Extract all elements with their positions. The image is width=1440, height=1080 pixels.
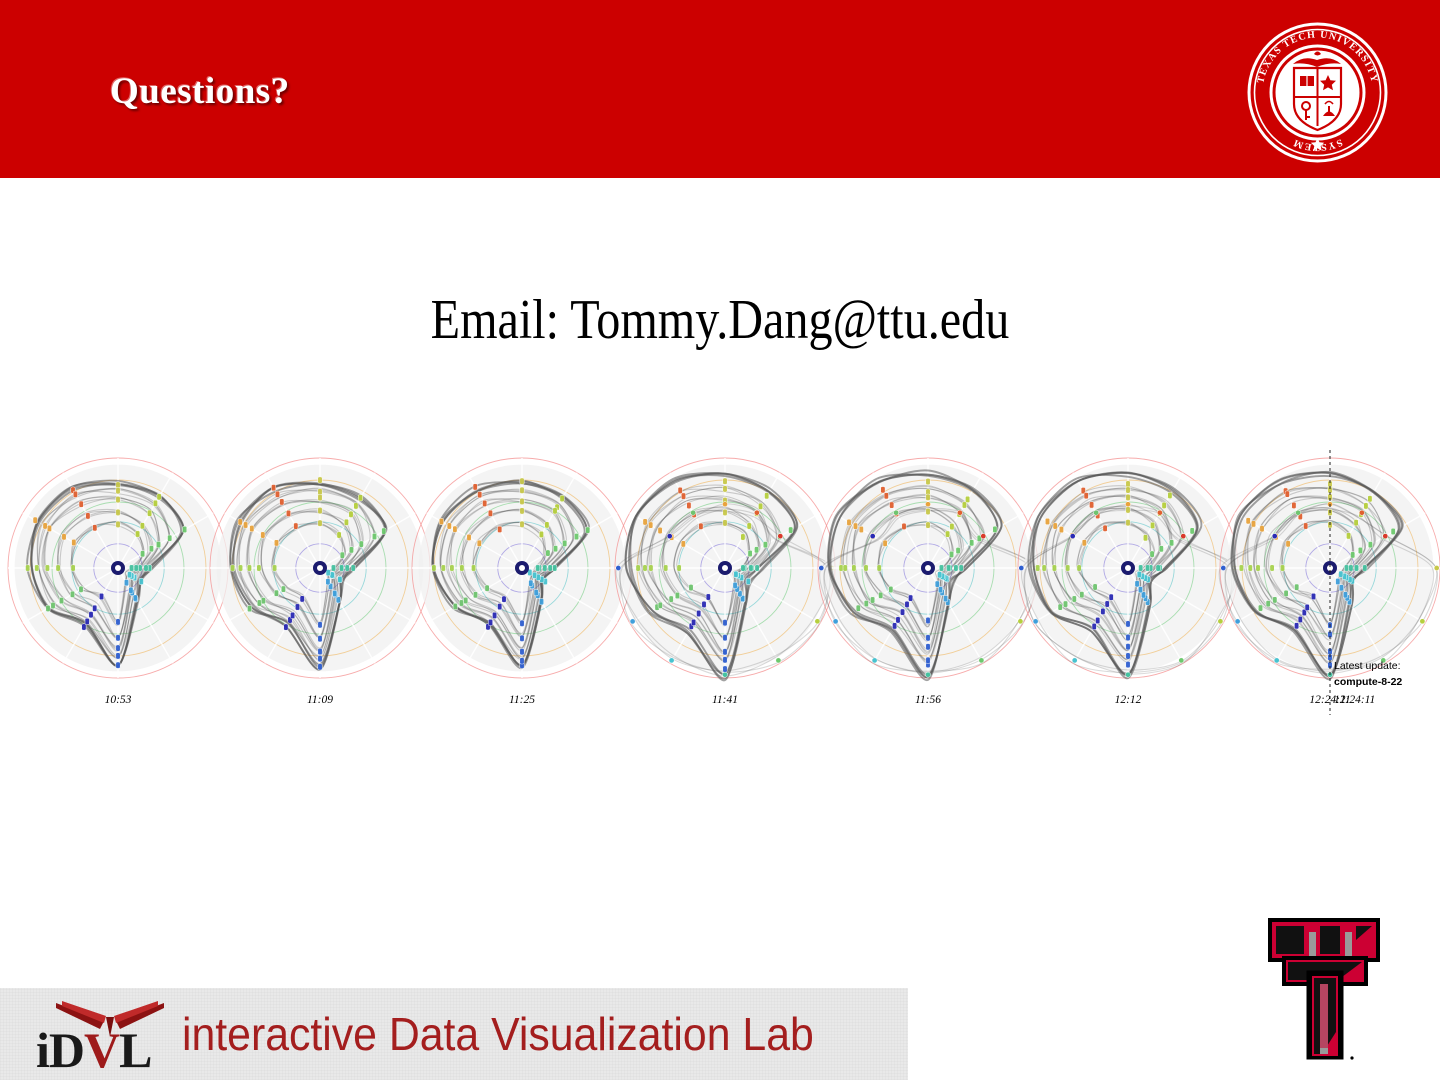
data-point-marker [746, 578, 750, 584]
data-point-marker-outer [981, 534, 986, 539]
data-point-marker [1105, 601, 1109, 607]
data-point-marker [755, 565, 759, 571]
data-point-marker [344, 519, 348, 525]
data-point-marker [926, 657, 930, 663]
data-point-marker [247, 565, 251, 571]
data-point-marker [723, 520, 727, 526]
data-point-marker [116, 653, 120, 659]
data-point-marker [1295, 584, 1299, 590]
data-point-marker [574, 533, 578, 539]
center-hub-hole [317, 565, 323, 571]
data-point-marker [691, 619, 695, 625]
data-point-marker [257, 600, 261, 606]
data-point-marker [943, 595, 947, 601]
data-point-marker [1059, 526, 1063, 532]
data-point-marker [116, 619, 120, 625]
data-point-marker [116, 635, 120, 641]
data-point-marker-outer [1218, 619, 1223, 624]
data-point-marker [723, 635, 727, 641]
data-point-marker [453, 526, 457, 532]
data-point-marker [272, 565, 276, 571]
data-point-marker [520, 635, 524, 641]
data-point-marker [1258, 605, 1262, 611]
data-point-marker [483, 500, 487, 506]
data-point-marker [926, 494, 930, 500]
data-point-marker [687, 502, 691, 508]
data-point-marker [520, 649, 524, 655]
data-point-marker [140, 551, 144, 557]
data-point-marker [116, 521, 120, 527]
data-point-marker [477, 540, 481, 546]
data-point-marker [553, 508, 557, 514]
data-point-marker [498, 603, 502, 609]
data-point-marker [135, 531, 139, 537]
radar-panel [8, 458, 228, 678]
data-point-marker [939, 565, 943, 571]
data-point-marker [1368, 542, 1372, 548]
data-point-marker [70, 591, 74, 597]
data-point-marker [1256, 565, 1260, 571]
data-point-marker [349, 511, 353, 517]
data-point-marker [250, 525, 254, 531]
data-point-marker [539, 599, 543, 605]
data-point-marker [340, 552, 344, 558]
data-point-marker [859, 526, 863, 532]
data-point-marker [1294, 623, 1298, 629]
data-point-marker [1126, 634, 1130, 640]
data-point-marker [938, 572, 942, 578]
data-point-marker-outer [667, 534, 672, 539]
data-point-marker [338, 576, 342, 582]
data-point-marker [85, 618, 89, 624]
data-point-marker [1169, 540, 1173, 546]
data-point-marker [1077, 565, 1081, 571]
idvl-wordmark: interactive Data Visualization Lab [182, 1007, 814, 1061]
data-point-marker [46, 605, 50, 611]
data-point-marker [669, 596, 673, 602]
data-point-marker [147, 510, 151, 516]
panel-time-label: 11:41 [712, 694, 738, 706]
data-point-marker [79, 501, 83, 507]
data-point-marker [144, 565, 148, 571]
data-point-marker [257, 565, 261, 571]
data-point-marker [1354, 565, 1358, 571]
data-point-marker [1126, 481, 1130, 487]
data-point-marker [238, 565, 242, 571]
data-point-marker [1339, 585, 1343, 591]
data-point-marker [492, 612, 496, 618]
radar-panel [210, 458, 430, 678]
data-point-marker-outer [1072, 658, 1077, 663]
data-point-marker [723, 478, 727, 484]
data-point-marker [926, 644, 930, 650]
data-point-marker [649, 522, 653, 528]
data-point-marker [89, 612, 93, 618]
center-hub-hole [115, 565, 121, 571]
data-point-marker [82, 624, 86, 630]
data-point-marker [86, 513, 90, 519]
data-point-marker [359, 541, 363, 547]
data-point-marker-outer [894, 510, 899, 515]
data-point-marker [134, 565, 138, 571]
data-point-marker-outer [1383, 534, 1388, 539]
data-point-marker [43, 523, 47, 529]
data-point-marker [677, 565, 681, 571]
data-point-marker [839, 565, 843, 571]
data-point-marker [520, 658, 524, 664]
data-point-marker [883, 540, 887, 546]
data-point-marker [763, 542, 767, 548]
data-point-marker [149, 546, 153, 552]
data-point-marker [877, 565, 881, 571]
data-point-marker [900, 609, 904, 615]
data-point-marker [520, 487, 524, 493]
data-point-marker [959, 565, 963, 571]
data-point-marker [938, 587, 942, 593]
panel-time-label: 11:56 [915, 694, 941, 706]
data-point-marker [286, 510, 290, 516]
data-point-marker [45, 565, 49, 571]
data-point-marker [1092, 623, 1096, 629]
data-point-marker [1344, 565, 1348, 571]
data-point-marker-outer [754, 510, 759, 515]
annotation-host: compute-8-22 [1334, 676, 1402, 688]
data-point-marker [723, 657, 727, 663]
data-point-marker [337, 532, 341, 538]
data-point-marker-outer [1125, 672, 1130, 677]
data-point-marker [1273, 597, 1277, 603]
data-point-marker-outer [1033, 619, 1038, 624]
data-point-marker [748, 550, 752, 556]
data-point-marker [318, 520, 322, 526]
data-point-marker [331, 565, 335, 571]
data-point-marker [896, 617, 900, 623]
data-point-marker [139, 578, 143, 584]
data-point-marker-outer [1157, 510, 1162, 515]
data-point-marker [864, 565, 868, 571]
data-point-marker [129, 565, 133, 571]
data-point-marker [382, 528, 386, 534]
page-title: Questions? [110, 70, 290, 113]
data-point-marker [261, 598, 265, 604]
data-point-marker [892, 623, 896, 629]
data-point-marker [723, 666, 727, 672]
data-point-marker [354, 503, 358, 509]
data-point-marker [664, 565, 668, 571]
data-point-marker [116, 662, 120, 668]
data-point-marker [520, 508, 524, 514]
data-point-marker [318, 494, 322, 500]
annotation-time: 12:24:11 [1334, 694, 1375, 706]
data-point-marker [586, 527, 590, 533]
data-point-marker [1246, 518, 1250, 524]
data-point-marker [636, 565, 640, 571]
data-point-marker [965, 496, 969, 502]
header-banner: Questions? TEXAS [0, 0, 1440, 178]
data-point-marker-outer [1272, 534, 1277, 539]
data-point-marker [1298, 616, 1302, 622]
data-point-marker [281, 586, 285, 592]
idvl-pre: iD [36, 1022, 84, 1078]
data-point-marker [949, 551, 953, 557]
data-point-marker [1103, 525, 1107, 531]
data-point-marker [116, 482, 120, 488]
data-point-marker [47, 525, 51, 531]
center-hub-hole [925, 565, 931, 571]
data-point-marker [1349, 565, 1353, 571]
radar-panel [818, 458, 1039, 680]
data-point-marker [1168, 492, 1172, 498]
data-point-marker [954, 565, 958, 571]
data-point-marker [1368, 496, 1372, 502]
data-point-marker [681, 541, 685, 547]
data-point-marker [881, 487, 885, 493]
data-point-marker [116, 496, 120, 502]
data-point-marker [741, 565, 745, 571]
data-point-marker-outer [833, 619, 838, 624]
data-point-marker [532, 572, 536, 578]
data-point-marker-outer [925, 502, 930, 507]
idvl-post: L [119, 1022, 151, 1078]
data-point-marker [864, 600, 868, 606]
data-point-marker [295, 604, 299, 610]
data-point-marker [539, 531, 543, 537]
data-point-marker [1251, 521, 1255, 527]
data-point-marker [473, 592, 477, 598]
data-point-marker [1150, 551, 1154, 557]
data-point-marker [789, 527, 793, 533]
data-point-marker [1089, 502, 1093, 508]
data-point-marker [1351, 552, 1355, 558]
data-point-marker [548, 565, 552, 571]
radar-chart-svg: 10:5311:0911:2511:4111:5612:1212:24:11La… [0, 440, 1440, 725]
data-point-marker-outer [925, 672, 930, 677]
idvl-lettermark: iDVL [36, 1025, 151, 1075]
idvl-accent-v: V [84, 1022, 119, 1078]
data-point-marker-outer [722, 672, 727, 677]
data-point-marker [884, 493, 888, 499]
data-point-marker [351, 565, 355, 571]
data-point-marker [1159, 546, 1163, 552]
data-point-marker [157, 494, 161, 500]
data-point-marker [702, 601, 706, 607]
data-point-marker [1143, 535, 1147, 541]
data-point-marker [1126, 653, 1130, 659]
data-point-marker [318, 477, 322, 483]
data-point-marker [464, 597, 468, 603]
data-point-marker [450, 565, 454, 571]
data-point-marker [71, 565, 75, 571]
data-point-marker [935, 581, 939, 587]
data-point-marker [1284, 590, 1288, 596]
data-point-marker-outer [1296, 510, 1301, 515]
data-point-marker [473, 484, 477, 490]
data-point-marker [290, 612, 294, 618]
data-point-marker [543, 565, 547, 571]
data-point-marker [1058, 604, 1062, 610]
data-point-marker-outer [1125, 502, 1130, 507]
data-point-marker [318, 489, 322, 495]
data-point-marker-outer [691, 510, 696, 515]
data-point-marker [1126, 494, 1130, 500]
data-point-marker [1052, 565, 1056, 571]
data-point-marker [1305, 604, 1309, 610]
data-point-marker-outer [872, 658, 877, 663]
data-point-marker [905, 601, 909, 607]
data-point-marker [890, 502, 894, 508]
data-point-marker [1162, 502, 1166, 508]
data-point-marker-outer [616, 565, 621, 570]
data-point-marker [1084, 493, 1088, 499]
data-point-marker [467, 534, 471, 540]
data-point-marker [140, 523, 144, 529]
data-point-marker [1363, 565, 1367, 571]
data-point-marker [26, 565, 30, 571]
data-point-marker [658, 602, 662, 608]
data-point-marker [261, 532, 265, 538]
data-point-marker [681, 493, 685, 499]
data-point-marker [733, 582, 737, 588]
data-point-marker [326, 570, 330, 576]
data-point-marker [79, 586, 83, 592]
data-point-marker [1358, 547, 1362, 553]
data-point-marker [1354, 520, 1358, 526]
data-point-marker [1311, 593, 1315, 599]
panel-time-label: 12:12 [1115, 694, 1142, 706]
data-point-marker [156, 541, 160, 547]
data-point-marker [349, 547, 353, 553]
data-point-marker-outer [776, 658, 781, 663]
data-point-marker [678, 487, 682, 493]
data-point-marker [1036, 565, 1040, 571]
data-point-marker [765, 493, 769, 499]
data-point-marker [318, 622, 322, 628]
data-point-marker-outer [815, 619, 820, 624]
data-point-marker [520, 521, 524, 527]
data-point-marker-outer [1019, 565, 1024, 570]
data-point-marker [1138, 587, 1142, 593]
data-point-marker-outer [819, 565, 824, 570]
data-point-marker [699, 523, 703, 529]
data-point-marker [441, 565, 445, 571]
data-point-marker [124, 580, 128, 586]
data-point-marker [318, 648, 322, 654]
data-point-marker [706, 594, 710, 600]
data-point-marker [439, 518, 443, 524]
data-point-marker-outer [1434, 565, 1439, 570]
panel-time-label: 11:25 [509, 694, 535, 706]
data-point-marker [520, 620, 524, 626]
data-point-marker [926, 478, 930, 484]
data-point-marker [536, 565, 540, 571]
data-point-marker [553, 565, 557, 571]
data-point-marker [853, 523, 857, 529]
data-point-marker [300, 596, 304, 602]
data-point-marker [723, 486, 727, 492]
data-point-marker [72, 539, 76, 545]
data-point-marker [946, 565, 950, 571]
data-point-marker [754, 547, 758, 553]
data-point-marker [1343, 592, 1347, 598]
data-point-marker-outer [778, 534, 783, 539]
data-point-marker [1336, 578, 1340, 584]
data-point-marker [734, 571, 738, 577]
data-point-marker [116, 645, 120, 651]
data-point-marker [471, 565, 475, 571]
data-point-marker [275, 491, 279, 497]
data-point-marker [1126, 661, 1130, 667]
data-point-marker [1093, 584, 1097, 590]
data-point-marker [247, 605, 251, 611]
data-point-marker [675, 592, 679, 598]
data-point-marker [274, 540, 278, 546]
texas-tech-double-t-logo-icon [1262, 912, 1388, 1062]
texas-tech-university-system-seal-icon: TEXAS TECH UNIVERSITY SYSTEM [1245, 20, 1390, 165]
data-point-marker [758, 503, 762, 509]
data-point-marker [1080, 592, 1084, 598]
data-point-marker-outer [722, 502, 727, 507]
data-point-marker [62, 534, 66, 540]
data-point-marker [852, 565, 856, 571]
center-hub-hole [722, 565, 728, 571]
data-point-marker [956, 547, 960, 553]
data-point-marker [478, 492, 482, 498]
data-point-marker [345, 565, 349, 571]
data-point-marker [453, 603, 457, 609]
data-point-marker [1292, 502, 1296, 508]
data-point-marker [1063, 601, 1067, 607]
data-point-marker [1139, 565, 1143, 571]
data-point-marker [59, 597, 63, 603]
radar-panel [1018, 458, 1238, 678]
data-point-marker [93, 605, 97, 611]
data-point-marker [485, 585, 489, 591]
data-point-marker [1190, 528, 1194, 534]
data-point-marker [447, 523, 451, 529]
data-point-marker [560, 495, 564, 501]
data-point-marker [168, 535, 172, 541]
annotation-label: Latest update: [1334, 660, 1401, 672]
data-point-marker [1101, 608, 1105, 614]
data-point-marker [99, 593, 103, 599]
data-point-marker [1150, 522, 1154, 528]
data-point-marker [749, 565, 753, 571]
data-point-marker [847, 519, 851, 525]
data-point-marker [318, 507, 322, 513]
data-point-marker [1266, 601, 1270, 607]
data-point-marker [1391, 528, 1395, 534]
data-point-marker [1072, 596, 1076, 602]
data-point-marker [274, 590, 278, 596]
data-point-marker-outer [669, 658, 674, 663]
data-point-marker [563, 540, 567, 546]
data-point-marker [545, 522, 549, 528]
data-point-marker [153, 500, 157, 506]
idvl-mark: iDVL [26, 997, 176, 1071]
data-point-marker [73, 491, 77, 497]
data-point-marker [1109, 594, 1113, 600]
data-point-marker [230, 565, 234, 571]
data-point-marker [1346, 533, 1350, 539]
data-point-marker [1280, 565, 1284, 571]
data-point-marker [926, 635, 930, 641]
data-point-marker-outer [1018, 619, 1023, 624]
radar-panel [1219, 458, 1440, 679]
data-point-marker [962, 502, 966, 508]
data-point-marker-outer [630, 619, 635, 624]
data-point-marker-outer [1094, 510, 1099, 515]
data-point-marker [116, 509, 120, 515]
